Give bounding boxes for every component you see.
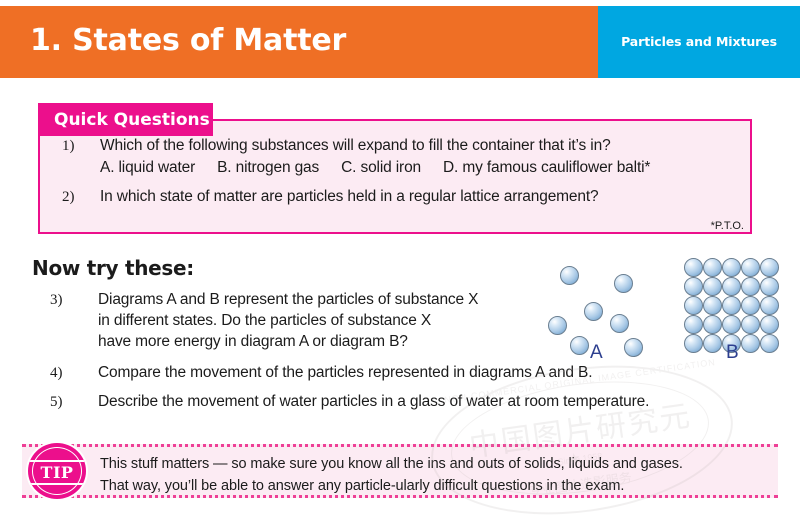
particle-b-12 [703, 296, 722, 315]
particle-b-10 [760, 277, 779, 296]
particle-a-3 [584, 302, 603, 321]
question-text: In which state of matter are particles h… [100, 188, 599, 206]
tip-badge-band-top [28, 460, 86, 462]
option-d: D. my famous cauliflower balti* [443, 159, 650, 177]
question-line: Describe the movement of water particles… [98, 393, 649, 411]
particle-b-25 [760, 334, 779, 353]
particle-b-8 [722, 277, 741, 296]
particle-b-18 [722, 315, 741, 334]
particle-b-9 [741, 277, 760, 296]
particle-b-17 [703, 315, 722, 334]
particle-a-6 [570, 336, 589, 355]
particle-b-5 [760, 258, 779, 277]
tip-badge-icon: TIP [26, 441, 88, 501]
question-text: Which of the following substances will e… [100, 137, 611, 155]
option-b: B. nitrogen gas [217, 159, 319, 177]
question-number: 1) [62, 138, 75, 155]
particle-b-7 [703, 277, 722, 296]
particle-a-5 [610, 314, 629, 333]
particle-b-19 [741, 315, 760, 334]
question-line: Diagrams A and B represent the particles… [98, 291, 478, 309]
question-options: A. liquid waterB. nitrogen gasC. solid i… [100, 159, 650, 177]
particle-b-6 [684, 277, 703, 296]
particle-b-16 [684, 315, 703, 334]
particle-a-2 [614, 274, 633, 293]
quick-questions-content: 1) Which of the following substances wil… [38, 119, 752, 234]
particle-a-4 [548, 316, 567, 335]
question-number: 3) [50, 292, 63, 309]
tip-badge-band-bottom [28, 483, 86, 485]
particle-b-21 [684, 334, 703, 353]
particle-diagrams: A B [548, 258, 788, 368]
option-a: A. liquid water [100, 159, 195, 177]
question-number: 2) [62, 189, 75, 206]
tip-line: That way, you’ll be able to answer any p… [100, 478, 624, 494]
particle-b-11 [684, 296, 703, 315]
diagram-b-label: B [726, 342, 739, 364]
particle-a-1 [560, 266, 579, 285]
particle-b-15 [760, 296, 779, 315]
diagram-a-label: A [590, 342, 603, 364]
question-line: in different states. Do the particles of… [98, 312, 431, 330]
particle-b-1 [684, 258, 703, 277]
diagram-a-gas [548, 258, 658, 358]
particle-b-3 [722, 258, 741, 277]
particle-a-7 [624, 338, 643, 357]
particle-b-13 [722, 296, 741, 315]
worksheet-page: Particles and Mixtures 1. States of Matt… [0, 0, 800, 526]
pto-footnote: *P.T.O. [711, 220, 744, 232]
tip-badge-label: TIP [28, 463, 86, 482]
particle-b-14 [741, 296, 760, 315]
particle-b-20 [760, 315, 779, 334]
tip-line: This stuff matters — so make sure you kn… [100, 456, 683, 472]
question-number: 5) [50, 394, 63, 411]
particle-b-22 [703, 334, 722, 353]
option-c: C. solid iron [341, 159, 421, 177]
particle-b-4 [741, 258, 760, 277]
question-line: Compare the movement of the particles re… [98, 364, 592, 382]
question-line: have more energy in diagram A or diagram… [98, 333, 408, 351]
particle-b-2 [703, 258, 722, 277]
question-number: 4) [50, 365, 63, 382]
particle-b-24 [741, 334, 760, 353]
